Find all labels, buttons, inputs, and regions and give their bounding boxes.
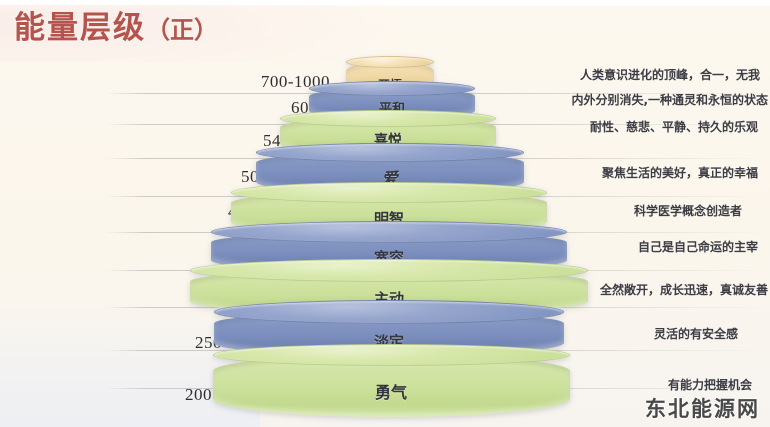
tier-top-ellipse [190, 259, 588, 282]
tier-top-ellipse [280, 110, 496, 127]
tier-description-平和: 内外分别消失,一种通灵和永恒的状态 [571, 93, 768, 108]
chart-canvas: 能量层级（正） 700-1000600540500400350310250200… [0, 0, 770, 427]
tier-description-主动: 全然敞开，成长迅速，真诚友善 [600, 283, 768, 298]
tier-label-勇气: 勇气 [213, 379, 570, 403]
tier-top-ellipse [211, 221, 567, 243]
tier-description-喜悦: 耐性、慈悲、平静、持久的乐观 [590, 120, 758, 135]
tier-description-淡定: 灵活的有安全感 [654, 327, 738, 342]
tier-description-明智: 科学医学概念创造者 [634, 204, 742, 219]
tier-description-勇气: 有能力把握机会 [668, 378, 752, 393]
tier-top-ellipse [309, 81, 475, 96]
pyramid-tier-勇气[interactable]: 勇气 [213, 355, 570, 417]
tier-top-ellipse [256, 143, 524, 162]
tier-top-ellipse [231, 182, 547, 203]
tier-description-宽容: 自己是自己命运的主宰 [638, 240, 758, 255]
tier-description-爱: 聚焦生活的美好，真正的幸福 [602, 166, 758, 181]
tier-top-ellipse [213, 344, 570, 366]
tier-top-ellipse [346, 56, 434, 68]
tier-description-开悟: 人类意识进化的顶峰，合一，无我 [580, 68, 760, 83]
watermark: 东北能源网 [645, 393, 760, 423]
tier-top-ellipse [214, 300, 564, 324]
